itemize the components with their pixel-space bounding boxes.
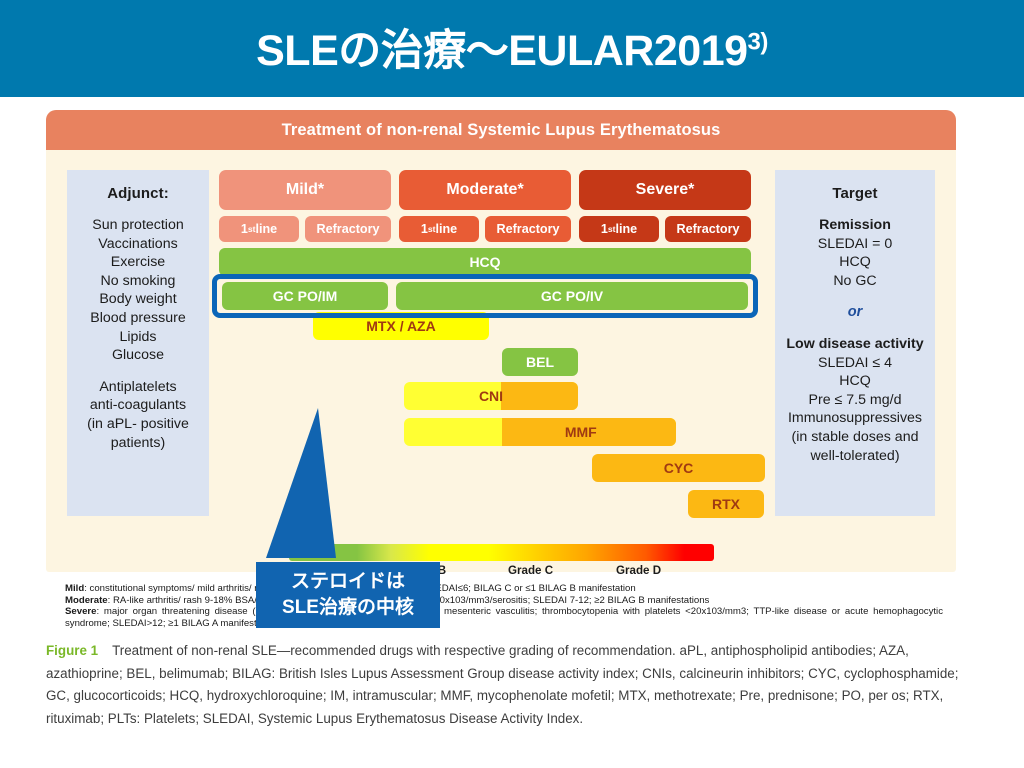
remission-item: HCQ <box>839 254 871 270</box>
adjunct-item: patients) <box>111 435 165 451</box>
lda-item: HCQ <box>839 373 871 389</box>
figure-caption: Figure 1Treatment of non-renal SLE—recom… <box>46 640 966 730</box>
footnote-moderate: Moderate: RA-like arthritis/ rash 9-18% … <box>65 595 943 607</box>
footnote-moderate-label: Moderate <box>65 595 108 606</box>
slide-root: SLEの治療～EULAR20193) Treatment of non-rena… <box>0 0 1024 768</box>
lda-item: Pre ≤ 7.5 mg/d <box>809 392 902 408</box>
adjunct-heading: Adjunct: <box>67 170 209 202</box>
bar-mmf-label: MMF <box>565 424 597 440</box>
lda-item: (in stable doses and <box>792 429 919 445</box>
adjunct-item: No smoking <box>101 273 176 289</box>
figure-number: Figure 1 <box>46 643 98 658</box>
chip-moderate-first-line[interactable]: 1st line <box>399 216 479 242</box>
gc-highlight-box <box>212 274 758 318</box>
bar-bel[interactable]: BEL <box>502 348 578 376</box>
bar-mmf[interactable]: MMF <box>404 418 676 446</box>
lda-item: Immunosuppressives <box>788 410 922 426</box>
severity-header-mild[interactable]: Mild* <box>219 170 391 210</box>
remission-heading: Remission <box>819 217 891 233</box>
footnote-severe-text: : major organ threatening disease (nephr… <box>65 606 943 629</box>
bar-bel-label: BEL <box>526 354 554 370</box>
lda-heading: Low disease activity <box>786 336 923 352</box>
chip-mild-first-line[interactable]: 1st line <box>219 216 299 242</box>
adjunct-item: Blood pressure <box>90 310 185 326</box>
chip-moderate-refractory[interactable]: Refractory <box>485 216 571 242</box>
chip-num: 1 <box>421 222 428 236</box>
bar-cyc[interactable]: CYC <box>592 454 765 482</box>
callout-line-2: SLE治療の中核 <box>282 595 414 621</box>
adjunct-item: Glucose <box>112 347 164 363</box>
severity-header-severe[interactable]: Severe* <box>579 170 751 210</box>
remission-item: SLEDAI = 0 <box>818 236 893 252</box>
chip-sup: st <box>608 224 616 234</box>
adjunct-column: Adjunct: Sun protection Vaccinations Exe… <box>67 170 209 516</box>
figure-panel: Treatment of non-renal Systemic Lupus Er… <box>46 110 956 572</box>
footnote-severe: Severe: major organ threatening disease … <box>65 606 943 629</box>
chip-num: 1 <box>601 222 608 236</box>
adjunct-item: Body weight <box>99 291 176 307</box>
target-column: Target Remission SLEDAI = 0 HCQ No GC or… <box>775 170 935 516</box>
adjunct-item: Antiplatelets <box>99 379 176 395</box>
chip-sup: st <box>428 224 436 234</box>
chip-rest: line <box>435 222 457 236</box>
callout-box: ステロイドは SLE治療の中核 <box>256 562 440 628</box>
lda-item: well-tolerated) <box>810 448 899 464</box>
severity-header-moderate[interactable]: Moderate* <box>399 170 571 210</box>
spacer <box>775 322 935 335</box>
footnote-mild: Mild: constitutional symptoms/ mild arth… <box>65 583 943 595</box>
chip-rest: line <box>615 222 637 236</box>
chip-num: 1 <box>241 222 248 236</box>
adjunct-item: Exercise <box>111 254 165 270</box>
chip-rest: line <box>255 222 277 236</box>
bar-cyc-label: CYC <box>664 460 694 476</box>
chip-mild-refractory[interactable]: Refractory <box>305 216 391 242</box>
adjunct-item: anti-coagulants <box>90 397 186 413</box>
grade-label-c: Grade C <box>508 564 553 577</box>
bar-cni-label: CNI <box>479 388 503 404</box>
adjunct-item: Sun protection <box>92 217 184 233</box>
adjunct-item: Lipids <box>119 329 156 345</box>
figure-footnotes: Mild: constitutional symptoms/ mild arth… <box>65 583 943 629</box>
chip-severe-first-line[interactable]: 1st line <box>579 216 659 242</box>
bar-cni[interactable]: CNI <box>404 382 578 410</box>
adjunct-body: Sun protection Vaccinations Exercise No … <box>67 202 209 452</box>
figure-header-title: Treatment of non-renal Systemic Lupus Er… <box>46 110 956 150</box>
figure-caption-text: Treatment of non-renal SLE—recommended d… <box>46 643 958 726</box>
spacer <box>67 365 209 378</box>
bar-cni-orange-segment <box>501 382 578 410</box>
callout-line-1: ステロイドは <box>291 569 405 595</box>
target-connector: or <box>848 304 863 320</box>
page-title-superscript: 3) <box>748 29 768 56</box>
bar-rtx[interactable]: RTX <box>688 490 764 518</box>
title-banner: SLEの治療～EULAR20193) <box>0 0 1024 97</box>
spacer <box>775 290 935 303</box>
page-title: SLEの治療～EULAR20193) <box>0 16 1024 78</box>
chip-sup: st <box>248 224 256 234</box>
bar-mtx-aza-label: MTX / AZA <box>366 318 435 334</box>
footnote-severe-label: Severe <box>65 606 96 617</box>
chip-severe-refractory[interactable]: Refractory <box>665 216 751 242</box>
lda-item: SLEDAI ≤ 4 <box>818 355 892 371</box>
footnote-mild-label: Mild <box>65 583 84 594</box>
grade-label-d: Grade D <box>616 564 661 577</box>
remission-item: No GC <box>833 273 876 289</box>
callout-arrow-icon <box>256 408 440 564</box>
bar-rtx-label: RTX <box>712 496 740 512</box>
bar-hcq-label: HCQ <box>469 254 500 270</box>
adjunct-item: Vaccinations <box>98 236 177 252</box>
target-heading: Target <box>775 170 935 202</box>
bar-hcq[interactable]: HCQ <box>219 248 751 276</box>
target-body: Remission SLEDAI = 0 HCQ No GC or Low di… <box>775 202 935 465</box>
page-title-main: SLEの治療～EULAR2019 <box>256 27 747 75</box>
adjunct-item: (in aPL- positive <box>87 416 189 432</box>
